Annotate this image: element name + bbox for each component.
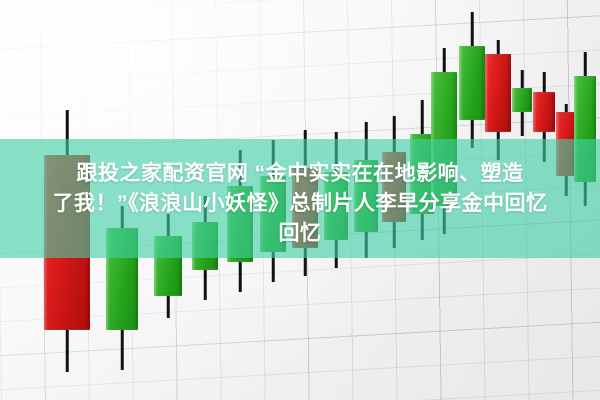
candle-body-down: [533, 92, 555, 132]
candle-body-up: [512, 88, 532, 112]
candle-body-down: [485, 54, 511, 132]
candlestick: [512, 70, 532, 136]
candlestick: [459, 12, 485, 148]
candlestick-chart-image: 跟投之家配资官网 “金中实实在在地影响、塑造 了我！”《浪浪山小妖怪》总制片人李…: [0, 0, 600, 400]
caption-overlay-band: [0, 139, 600, 258]
candle-body-up: [459, 46, 485, 120]
